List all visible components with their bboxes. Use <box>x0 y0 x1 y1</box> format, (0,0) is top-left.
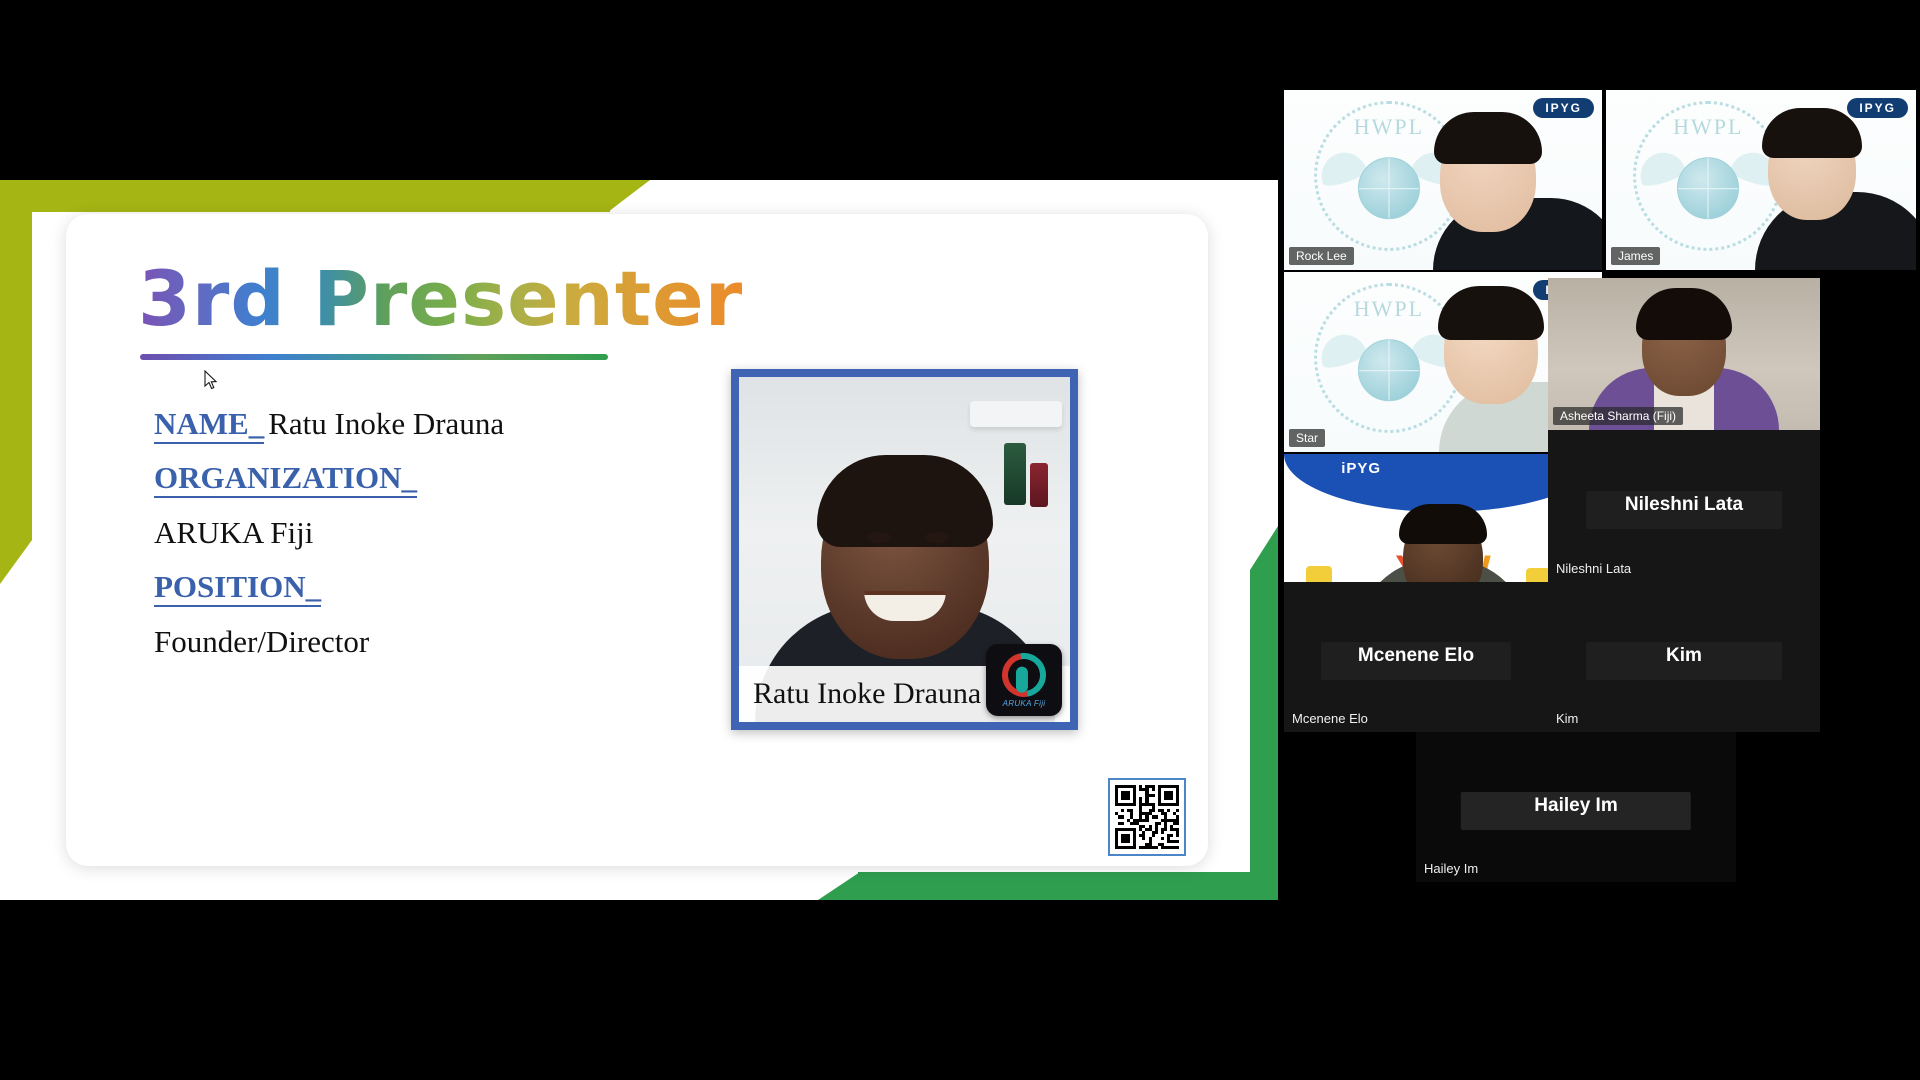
ipyc-logo-text: iPYG <box>1341 460 1381 477</box>
slide-decoration-olive-top <box>0 180 610 212</box>
participant-name-label: Hailey Im <box>1424 861 1478 876</box>
participant-name-label: Rock Lee <box>1289 247 1354 265</box>
video-tile-nileshni-lata[interactable]: Nileshni Lata Nileshni Lata <box>1548 430 1820 582</box>
participant-display-name: Kim <box>1548 645 1820 667</box>
field-organization-label-row: ORGANIZATION_ <box>154 460 417 496</box>
field-organization-value: ARUKA Fiji <box>154 515 313 550</box>
participant-hair <box>1762 108 1862 158</box>
presenter-photo-caption-text: Ratu Inoke Drauna <box>753 677 981 711</box>
slide-card: 3rd Presenter NAME_ Ratu Inoke Drauna OR… <box>66 214 1208 866</box>
photo-bottle-red <box>1030 463 1048 507</box>
slide-decoration-olive-left <box>0 180 32 540</box>
photo-person-eye-right <box>925 532 949 543</box>
participant-name-label: Kim <box>1556 711 1578 726</box>
ipyg-badge: IPYG <box>1847 98 1908 118</box>
photo-person-hair <box>817 455 993 547</box>
aruka-fiji-logo: ARUKA Fiji <box>986 644 1062 716</box>
participant-display-name: Nileshni Lata <box>1548 494 1820 516</box>
participant-name-label: James <box>1611 247 1660 265</box>
presenter-photo: Ratu Inoke Drauna ARUKA Fiji <box>731 369 1078 730</box>
field-position-label: POSITION_ <box>154 569 321 607</box>
photo-person-eye-left <box>867 532 891 543</box>
video-tile-hailey-im[interactable]: Hailey Im Hailey Im <box>1416 732 1736 882</box>
video-tile-asheeta-sharma[interactable]: Asheeta Sharma (Fiji) <box>1548 278 1820 430</box>
field-organization-label: ORGANIZATION_ <box>154 460 417 498</box>
participant-hair <box>1434 112 1542 164</box>
participant-hair <box>1438 286 1544 340</box>
field-organization-value-row: ARUKA Fiji <box>154 515 313 551</box>
photo-bottle-green <box>1004 443 1026 505</box>
mouse-cursor <box>204 370 218 390</box>
participant-name-label: Star <box>1289 429 1325 447</box>
participant-display-name: Mcenene Elo <box>1284 645 1548 667</box>
video-tile-kim[interactable]: Kim Kim <box>1548 582 1820 732</box>
qr-code-pattern <box>1115 785 1179 849</box>
field-position-value: Founder/Director <box>154 624 369 659</box>
aruka-logo-text: ARUKA Fiji <box>1003 699 1046 708</box>
photo-shelf <box>970 401 1062 427</box>
slide-decoration-green-right <box>1250 570 1278 900</box>
participant-hair <box>1399 504 1487 544</box>
field-position-value-row: Founder/Director <box>154 624 369 660</box>
shared-screen-slide[interactable]: 3rd Presenter NAME_ Ratu Inoke Drauna OR… <box>0 180 1278 900</box>
field-name-label: NAME_ <box>154 406 264 444</box>
screen-root: 3rd Presenter NAME_ Ratu Inoke Drauna OR… <box>0 0 1920 1080</box>
field-name-value: Ratu Inoke Drauna <box>268 406 504 441</box>
field-name: NAME_ Ratu Inoke Drauna <box>154 406 504 442</box>
slide-decoration-green-bottom <box>858 872 1278 900</box>
video-tile-james[interactable]: HWPL IPYG James <box>1606 90 1916 270</box>
participant-display-name: Hailey Im <box>1416 795 1736 817</box>
field-position-label-row: POSITION_ <box>154 569 321 605</box>
aruka-ring-icon <box>993 644 1054 705</box>
participant-name-label: Mcenene Elo <box>1292 711 1368 726</box>
participant-name-label: Asheeta Sharma (Fiji) <box>1553 407 1683 425</box>
qr-code[interactable] <box>1108 778 1186 856</box>
participant-video-strip: HWPL IPYG Rock Lee HWPL <box>1280 0 1920 1080</box>
participant-name-label: Nileshni Lata <box>1556 561 1631 576</box>
ipyg-badge: IPYG <box>1533 98 1594 118</box>
video-tile-rock-lee[interactable]: HWPL IPYG Rock Lee <box>1284 90 1602 270</box>
video-tile-mcenene-elo[interactable]: Mcenene Elo Mcenene Elo <box>1284 582 1548 732</box>
title-underline-rule <box>140 354 608 360</box>
slide-title: 3rd Presenter <box>138 254 743 343</box>
